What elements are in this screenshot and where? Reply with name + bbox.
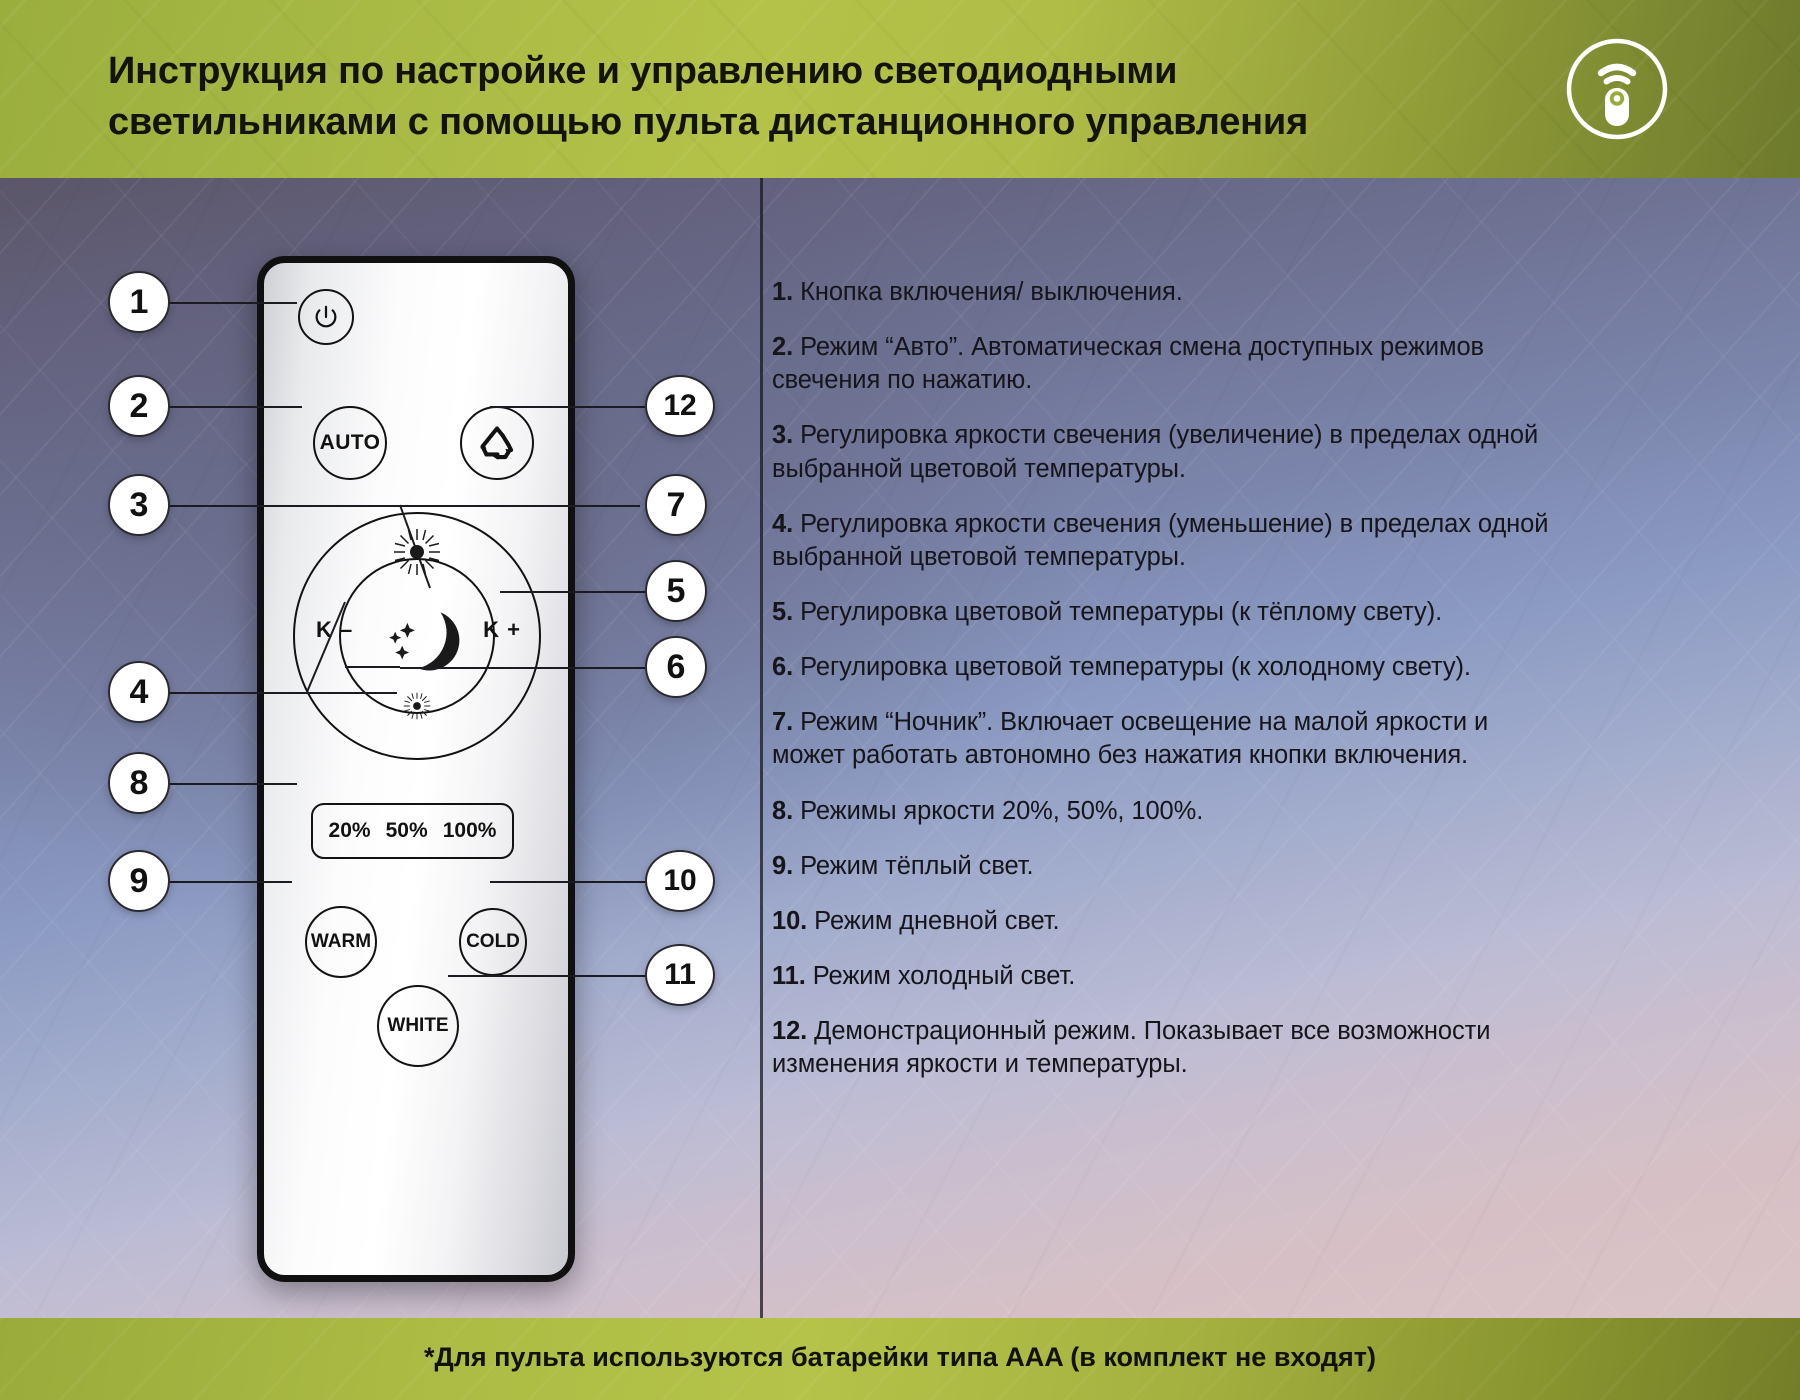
- white-button-label: WHITE: [387, 1015, 448, 1037]
- legend-item: 11. Режим холодный свет.: [772, 960, 1562, 993]
- legend-item-text: Регулировка яркости свечения (уменьшение…: [772, 510, 1548, 571]
- callout-10[interactable]: 10: [645, 850, 715, 912]
- callout-4[interactable]: 4: [108, 661, 170, 723]
- legend-item: 6. Регулировка цветовой температуры (к х…: [772, 651, 1562, 684]
- legend-item-text: Кнопка включения/ выключения.: [800, 278, 1183, 306]
- auto-button-label: AUTO: [320, 431, 381, 455]
- legend-item-text: Регулировка цветовой температуры (к тёпл…: [800, 598, 1442, 626]
- kelvin-plus-button[interactable]: K +: [483, 617, 521, 643]
- callout-7[interactable]: 7: [645, 474, 707, 536]
- sun-dim-icon[interactable]: [402, 691, 432, 721]
- remote-control-signal-icon: [1564, 36, 1670, 142]
- warm-button[interactable]: WARM: [305, 906, 377, 978]
- page-title: Инструкция по настройке и управлению све…: [108, 46, 1408, 147]
- legend-item-number: 4.: [772, 510, 793, 538]
- legend-item: 8. Режимы яркости 20%, 50%, 100%.: [772, 795, 1562, 828]
- footer-bar: *Для пульта используются батарейки типа …: [0, 1318, 1800, 1400]
- leader-line-9: [162, 881, 292, 883]
- callout-5[interactable]: 5: [645, 560, 707, 622]
- demo-button[interactable]: [460, 406, 534, 480]
- legend-item-text: Регулировка яркости свечения (увеличение…: [772, 421, 1538, 482]
- legend-item: 9. Режим тёплый свет.: [772, 850, 1562, 883]
- legend-item-text: Регулировка цветовой температуры (к холо…: [800, 653, 1471, 681]
- power-button[interactable]: [298, 289, 354, 345]
- cold-button-label: COLD: [466, 931, 520, 953]
- legend-item: 2. Режим “Авто”. Автоматическая смена до…: [772, 331, 1562, 397]
- leader-line-6: [400, 667, 645, 669]
- legend-item-number: 5.: [772, 598, 793, 626]
- footer-note: *Для пульта используются батарейки типа …: [0, 1342, 1800, 1373]
- panel-divider: [760, 178, 763, 1318]
- legend-item-text: Режим тёплый свет.: [800, 852, 1033, 880]
- callout-1[interactable]: 1: [108, 271, 170, 333]
- callout-11[interactable]: 11: [645, 944, 715, 1006]
- callout-6[interactable]: 6: [645, 636, 707, 698]
- leader-line-7: [400, 505, 640, 507]
- callout-3[interactable]: 3: [108, 474, 170, 536]
- legend-item-text: Демонстрационный режим. Показывает все в…: [772, 1017, 1490, 1078]
- remote-control-body: AUTO: [257, 256, 575, 1282]
- legend-item-number: 6.: [772, 653, 793, 681]
- white-button[interactable]: WHITE: [377, 985, 459, 1067]
- legend-item: 5. Регулировка цветовой температуры (к т…: [772, 596, 1562, 629]
- leader-line-8: [162, 783, 297, 785]
- moon-stars-icon: [369, 588, 465, 684]
- brightness-level-20: 20%: [329, 819, 371, 843]
- callout-8[interactable]: 8: [108, 752, 170, 814]
- legend-item-text: Режим дневной свет.: [814, 907, 1059, 935]
- legend-item-number: 2.: [772, 333, 793, 361]
- legend-item: 4. Регулировка яркости свечения (уменьше…: [772, 508, 1562, 574]
- warm-button-label: WARM: [311, 931, 371, 953]
- power-icon: [309, 300, 343, 334]
- auto-button[interactable]: AUTO: [313, 406, 387, 480]
- legend-item-number: 10.: [772, 907, 807, 935]
- legend-item: 7. Режим “Ночник”. Включает освещение на…: [772, 706, 1562, 772]
- callout-2[interactable]: 2: [108, 375, 170, 437]
- kelvin-minus-button[interactable]: K –: [316, 617, 353, 643]
- brightness-level-100: 100%: [443, 819, 497, 843]
- legend-item-text: Режим холодный свет.: [813, 962, 1075, 990]
- leader-line-3: [162, 505, 437, 507]
- legend-item: 3. Регулировка яркости свечения (увеличе…: [772, 419, 1562, 485]
- leader-line-4: [162, 692, 397, 694]
- legend-item-number: 8.: [772, 797, 793, 825]
- leader-line-1: [162, 302, 297, 304]
- legend-item-text: Режим “Авто”. Автоматическая смена досту…: [772, 333, 1484, 394]
- legend-panel: 1. Кнопка включения/ выключения. 2. Режи…: [772, 276, 1562, 1276]
- legend-item-text: Режим “Ночник”. Включает освещение на ма…: [772, 708, 1488, 769]
- leader-line-5: [500, 591, 645, 593]
- leader-line-11: [448, 975, 648, 977]
- header-bar: Инструкция по настройке и управлению све…: [0, 0, 1800, 178]
- legend-item: 1. Кнопка включения/ выключения.: [772, 276, 1562, 309]
- legend-item-number: 9.: [772, 852, 793, 880]
- callout-9[interactable]: 9: [108, 850, 170, 912]
- legend-item-number: 3.: [772, 421, 793, 449]
- callout-12[interactable]: 12: [645, 375, 715, 437]
- infographic-page: Инструкция по настройке и управлению све…: [0, 0, 1800, 1400]
- recycle-loop-icon: [475, 421, 519, 465]
- leader-line-10: [490, 881, 645, 883]
- leader-line-12: [490, 406, 645, 408]
- brightness-levels-button[interactable]: 20% 50% 100%: [311, 803, 514, 859]
- brightness-level-50: 50%: [386, 819, 428, 843]
- leader-line-2: [162, 406, 302, 408]
- legend-item-number: 11.: [772, 962, 806, 990]
- legend-item: 10. Режим дневной свет.: [772, 905, 1562, 938]
- cold-button[interactable]: COLD: [459, 908, 527, 976]
- legend-item: 12. Демонстрационный режим. Показывает в…: [772, 1015, 1562, 1081]
- legend-item-number: 12.: [772, 1017, 807, 1045]
- legend-item-text: Режимы яркости 20%, 50%, 100%.: [800, 797, 1203, 825]
- legend-item-number: 7.: [772, 708, 793, 736]
- legend-item-number: 1.: [772, 278, 793, 306]
